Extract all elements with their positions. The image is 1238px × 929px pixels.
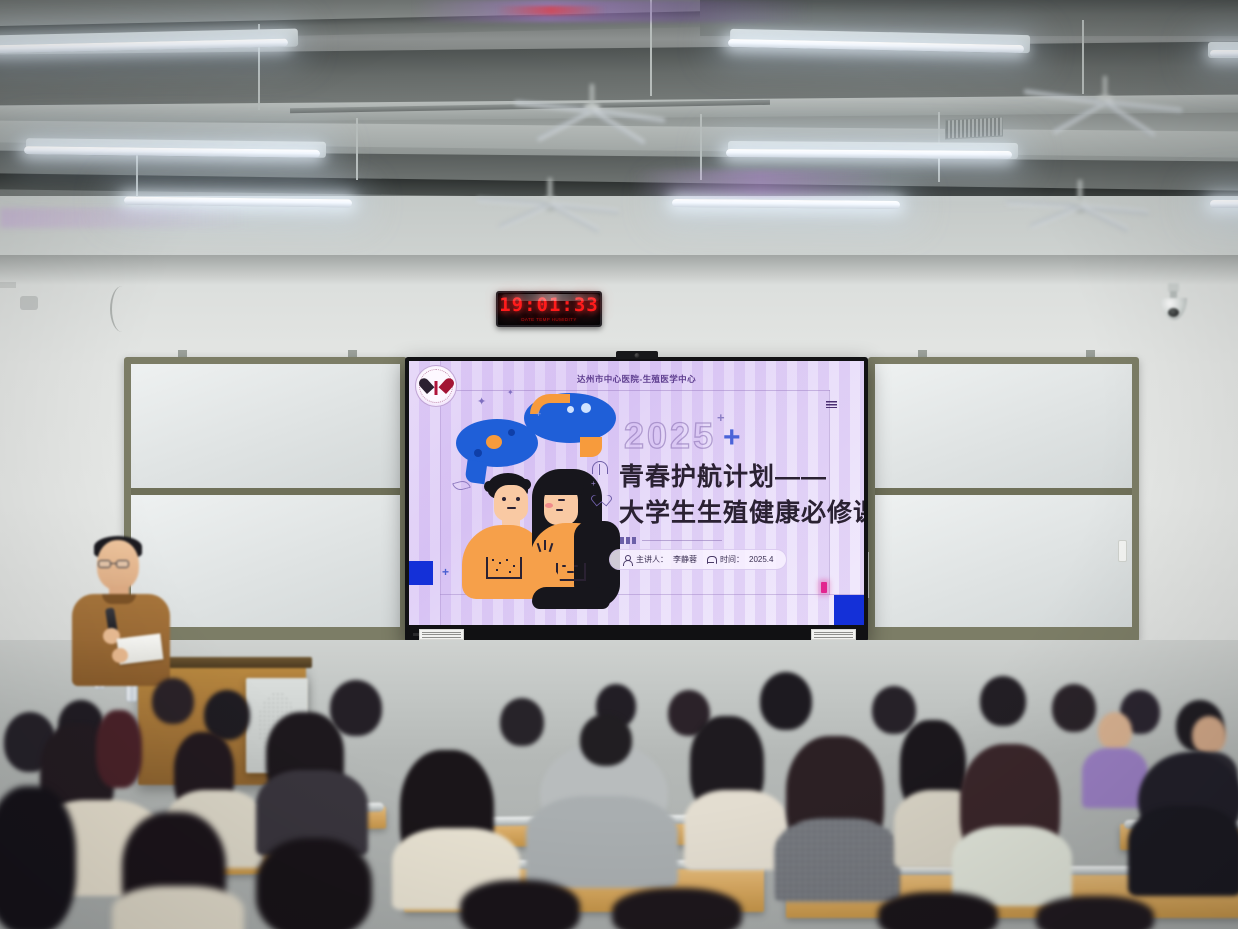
person-icon	[623, 555, 631, 565]
boy-face	[494, 485, 528, 521]
sparkle-icon: ✦	[507, 389, 514, 397]
webcam-icon	[616, 351, 658, 359]
presenter	[66, 536, 176, 686]
slide-guide-line	[829, 390, 830, 595]
display-screen[interactable]: 达州市中心医院-生殖医学中心	[409, 361, 864, 625]
cable	[110, 286, 134, 332]
wall-display[interactable]: 达州市中心医院-生殖医学中心	[405, 357, 868, 642]
wall-top-shadow	[0, 255, 1238, 285]
slide-speaker-info-bar: 主讲人： 李静蓉 时间： 2025.4	[609, 549, 787, 570]
plus-doodle-icon: +	[442, 566, 449, 578]
student	[0, 786, 76, 929]
clock-sub-label: DATE TEMP HUMIDITY	[521, 317, 576, 322]
date-value: 2025.4	[749, 555, 773, 564]
right-whiteboard	[868, 357, 1139, 642]
ceiling-fan-icon	[470, 198, 630, 226]
speaker-label: 主讲人：	[636, 554, 668, 565]
dome-camera-icon	[1160, 283, 1188, 327]
presentation-slide: 达州市中心医院-生殖医学中心	[409, 361, 864, 625]
ceiling	[0, 0, 1238, 280]
wall-mark	[0, 282, 16, 288]
arch-doodle-icon	[592, 461, 608, 474]
student	[1036, 896, 1154, 929]
blue-square-accent	[409, 561, 433, 585]
display-asset-label	[419, 629, 464, 640]
fluorescent-tube-light	[1210, 200, 1238, 208]
pink-accent-mark	[821, 582, 827, 593]
plus-doodle-icon: +	[536, 410, 541, 419]
ceiling-fan-icon	[1020, 96, 1190, 126]
slide-divider-dots	[620, 537, 722, 544]
clock-glare	[502, 294, 600, 301]
student	[878, 892, 998, 929]
fluorescent-tube-light	[1210, 50, 1238, 57]
speaker-name: 李静蓉	[673, 554, 697, 565]
lecture-hall-photo: 19:01:33 DATE TEMP HUMIDITY	[0, 0, 1238, 929]
blue-square-accent	[834, 595, 864, 625]
wall-fixture	[20, 296, 38, 310]
glasses-icon	[98, 560, 111, 568]
bell-icon	[707, 555, 715, 565]
sparkle-icon: ✦	[477, 397, 486, 408]
display-asset-label	[811, 629, 856, 640]
heart-doodle-icon	[595, 491, 608, 502]
slide-title-line1: 青春护航计划——	[619, 465, 827, 490]
slide-title-line2: 大学生生殖健康必修课	[619, 501, 864, 526]
slide-plus-big: +	[723, 423, 741, 453]
marker-tray	[1118, 540, 1127, 562]
student	[460, 880, 580, 929]
plus-doodle-icon: +	[591, 480, 596, 488]
ceiling-fan-icon	[1000, 200, 1160, 228]
student	[256, 838, 372, 929]
digital-wall-clock: 19:01:33 DATE TEMP HUMIDITY	[496, 291, 602, 327]
date-label: 时间：	[720, 554, 744, 565]
ceiling-fan-icon	[512, 104, 672, 134]
hamburger-icon[interactable]	[826, 401, 837, 408]
student	[612, 888, 742, 929]
slide-year-text: 2025	[624, 418, 716, 454]
